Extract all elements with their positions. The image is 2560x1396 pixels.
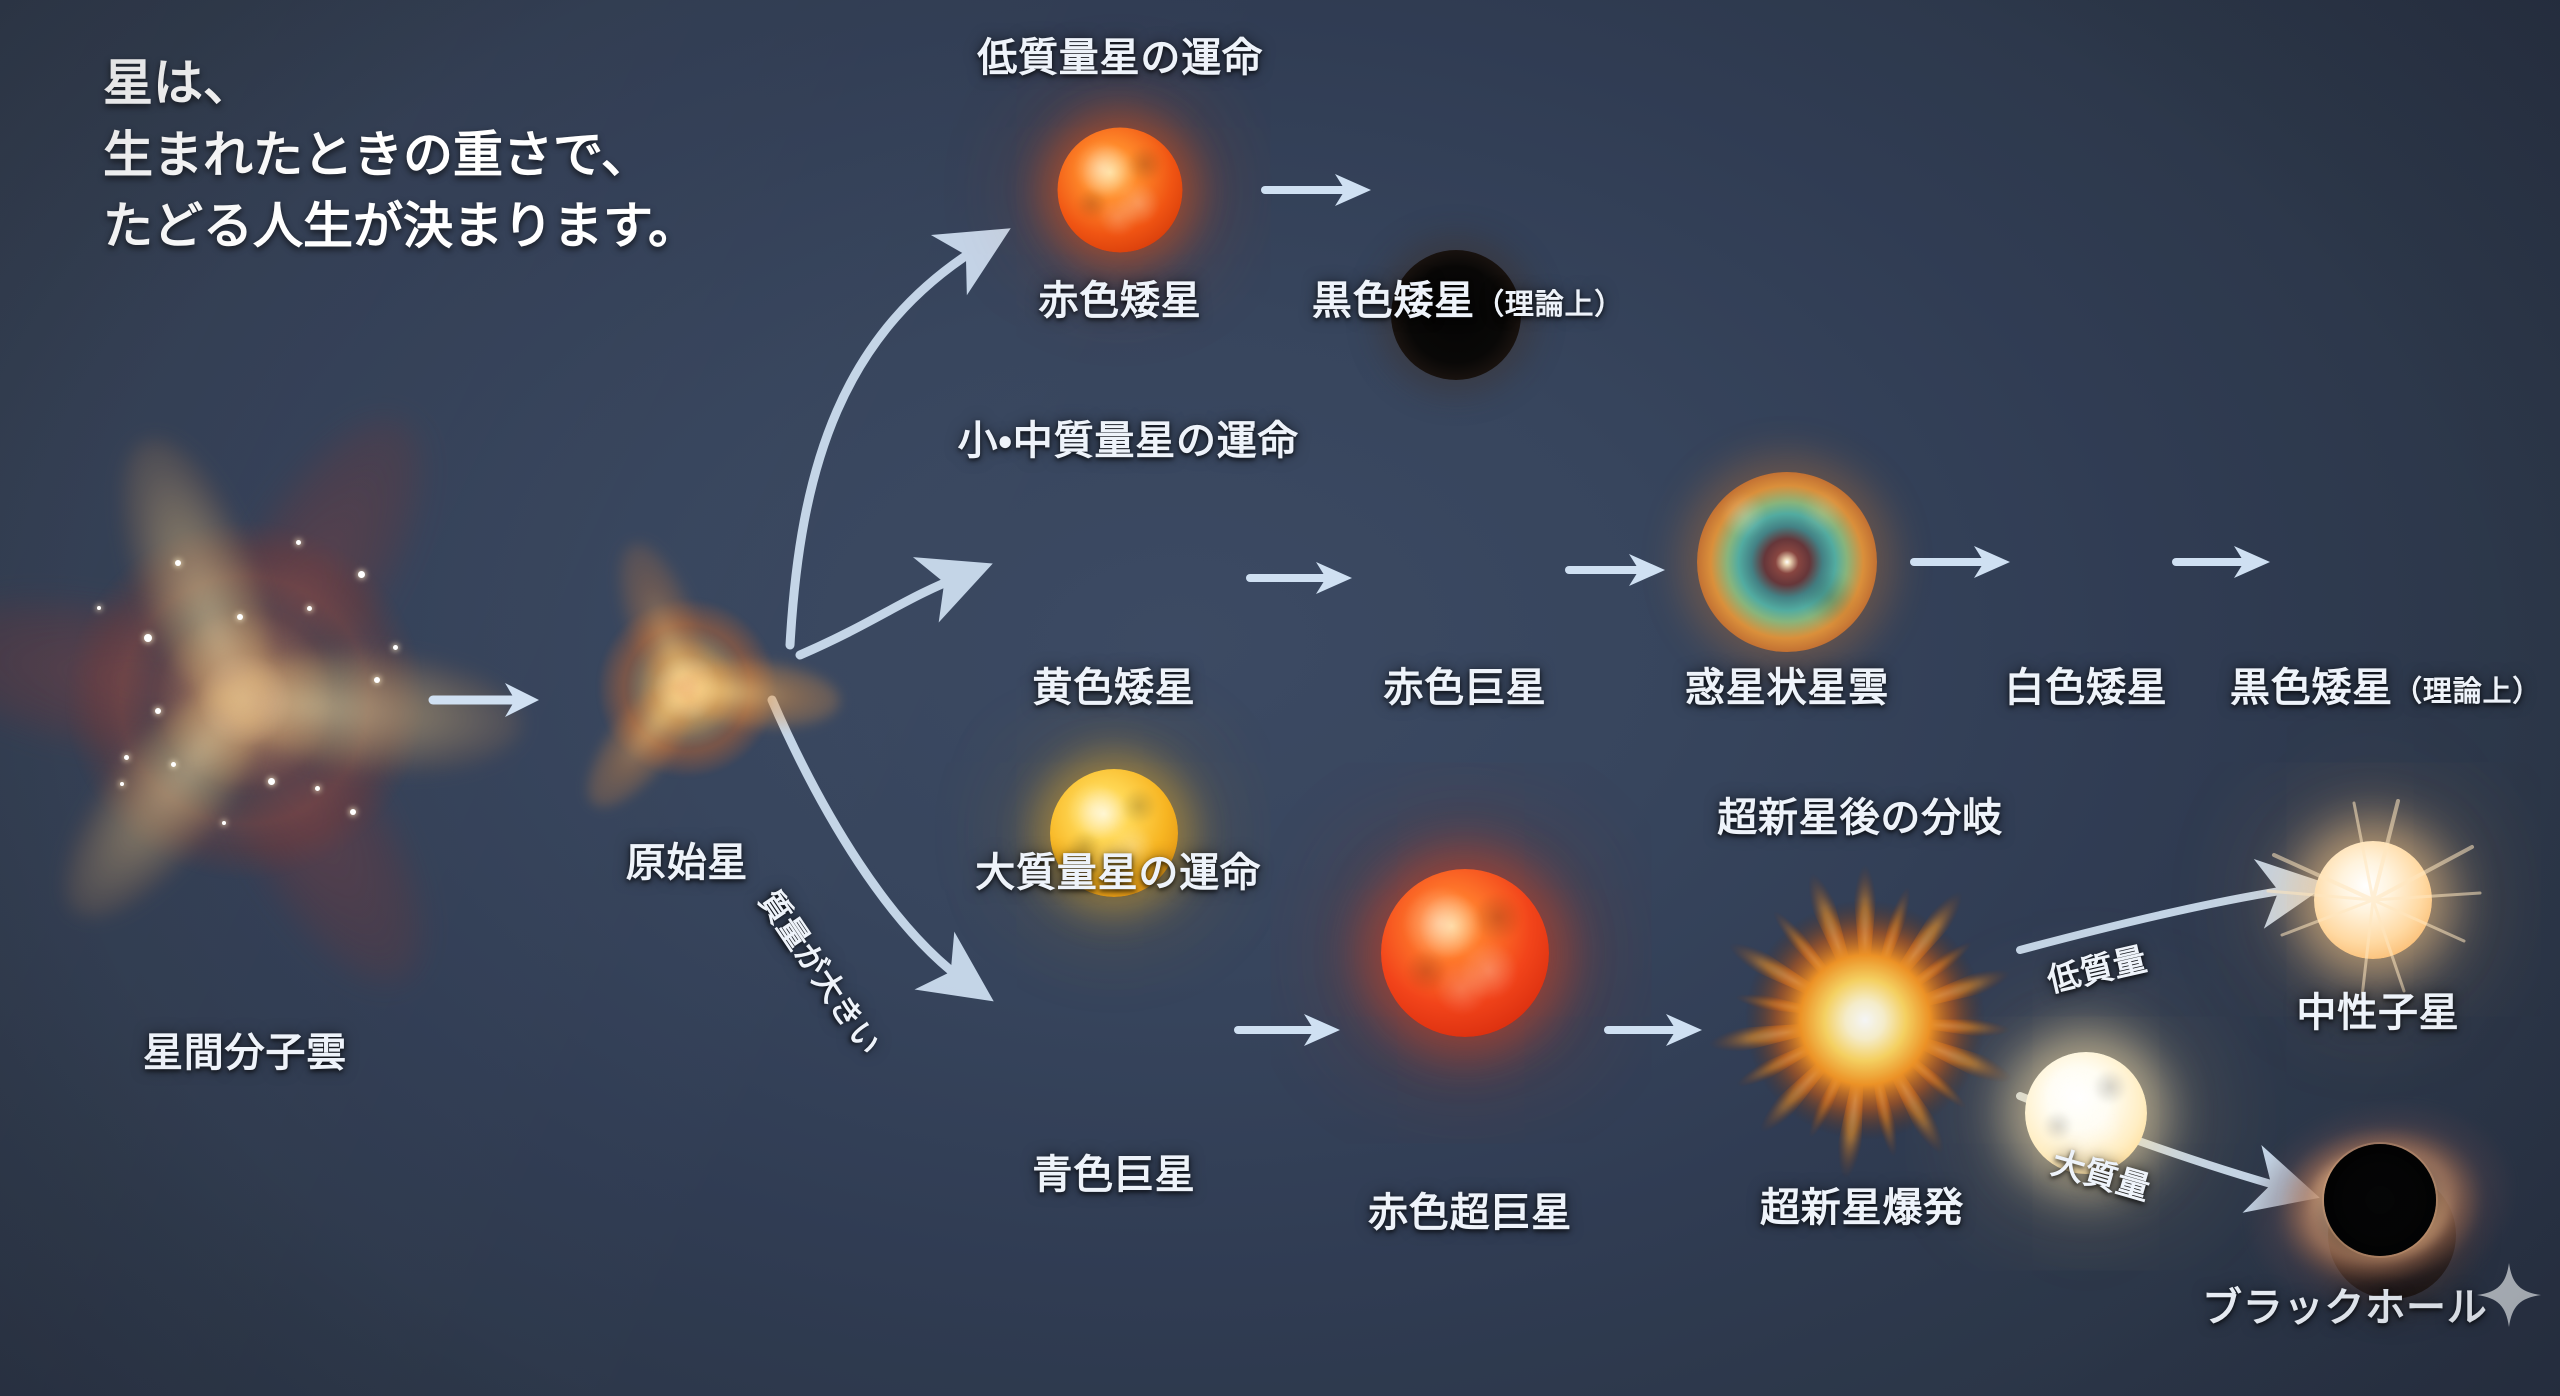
headline-line-1: 星は、 (103, 48, 698, 120)
headline-line-2: 生まれたときの重さで、 (103, 120, 698, 192)
arrow-red-supergiant-to-supernova (1604, 1007, 1706, 1053)
headline-line-3: たどる人生が決まります。 (103, 191, 698, 263)
label-white-dwarf: 白色矮星 (2004, 655, 2167, 713)
label-black-dwarf-note: （理論上） (1475, 287, 1624, 321)
infographic-canvas: 星は、 生まれたときの重さで、 たどる人生が決まります。 (0, 0, 2560, 1396)
object-supernova (1700, 855, 2030, 1185)
surface-texture (1065, 135, 1175, 245)
object-red-giant (1381, 869, 1549, 1037)
label-protostar: 原始星 (626, 830, 748, 888)
label-black-dwarf: 黒色矮星（理論上） (1312, 268, 1624, 326)
page-title: 星は、 生まれたときの重さで、 たどる人生が決まります。 (103, 48, 698, 263)
surface-texture (1391, 879, 1539, 1027)
label-yellow-dwarf: 黄色矮星 (1032, 655, 1195, 713)
label-black-dwarf-2-note: （理論上） (2393, 674, 2542, 708)
nebula-texture (1697, 472, 1877, 652)
object-planetary-nebula (1697, 472, 1877, 652)
object-interstellar-cloud (50, 505, 440, 895)
object-red-dwarf (1058, 128, 1183, 253)
supernova-burst (1700, 855, 2030, 1185)
label-supernova: 超新星爆発 (1760, 1175, 1964, 1233)
label-black-dwarf-2: 黒色矮星（理論上） (2230, 655, 2542, 713)
arrow-yellow-dwarf-to-red-giant (1246, 555, 1358, 601)
arrow-red-dwarf-to-black-dwarf (1261, 167, 1379, 213)
label-blue-giant: 青色巨星 (1032, 1142, 1195, 1200)
label-edge-low-mass: 低質量 (2042, 932, 2151, 1001)
label-edge-high-mass: 大質量 (2047, 1136, 2157, 1210)
section-title-post-supernova: 超新星後の分岐 (1717, 785, 2003, 843)
arrow-white-dwarf-to-black-dwarf (2172, 539, 2274, 585)
arrow-red-giant-to-planetary-nebula (1565, 547, 1669, 593)
label-red-giant: 赤色巨星 (1383, 655, 1546, 713)
arrow-blue-giant-to-red-supergiant (1234, 1007, 1346, 1053)
label-interstellar-cloud: 星間分子雲 (143, 1020, 347, 1078)
section-title-high-mass: 大質量星の運命 (975, 840, 1261, 898)
section-title-mid-mass: 小・中質量星の運命 (958, 408, 1299, 466)
section-title-low-mass: 低質量星の運命 (977, 25, 1263, 83)
arrow-cloud-to-protostar (427, 676, 547, 724)
object-protostar (580, 581, 795, 796)
label-red-supergiant: 赤色超巨星 (1368, 1180, 1572, 1238)
label-black-hole: ブラックホール (2202, 1275, 2488, 1333)
event-horizon (2324, 1144, 2436, 1256)
label-planetary-nebula: 惑星状星雲 (1685, 655, 1889, 713)
arrow-planetary-nebula-to-white-dwarf (1910, 539, 2014, 585)
label-neutron-star: 中性子星 (2296, 980, 2459, 1038)
label-edge-heavy-mass: 質量が大きい (751, 880, 894, 1062)
label-red-dwarf: 赤色矮星 (1038, 268, 1201, 326)
sparkle-icon (2476, 1262, 2542, 1328)
